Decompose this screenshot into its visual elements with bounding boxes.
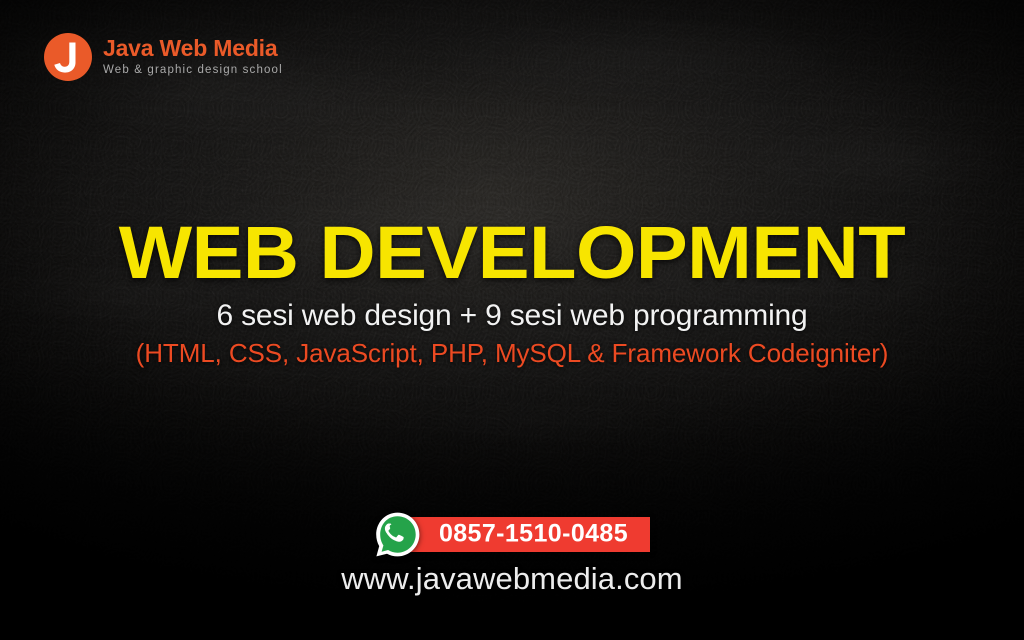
headline-title: WEB DEVELOPMENT <box>0 216 1024 290</box>
brand-name: Java Web Media <box>103 37 283 60</box>
contact-row: 0857-1510-0485 <box>0 508 1024 560</box>
java-web-media-j-monogram-icon <box>44 33 92 81</box>
promo-banner: Java Web Media Web & graphic design scho… <box>0 0 1024 640</box>
brand-logo-text: Java Web Media Web & graphic design scho… <box>103 37 283 77</box>
brand-tagline: Web & graphic design school <box>103 65 283 77</box>
whatsapp-icon[interactable] <box>374 511 421 558</box>
subtitle-tech-stack: (HTML, CSS, JavaScript, PHP, MySQL & Fra… <box>0 339 1024 369</box>
phone-number: 0857-1510-0485 <box>439 519 628 548</box>
brand-logo[interactable]: Java Web Media Web & graphic design scho… <box>44 33 283 81</box>
subtitle-sessions: 6 sesi web design + 9 sesi web programmi… <box>0 299 1024 334</box>
phone-banner[interactable]: 0857-1510-0485 <box>395 517 650 552</box>
whatsapp-contact-group[interactable]: 0857-1510-0485 <box>374 508 650 560</box>
website-url[interactable]: www.javawebmedia.com <box>0 561 1024 597</box>
